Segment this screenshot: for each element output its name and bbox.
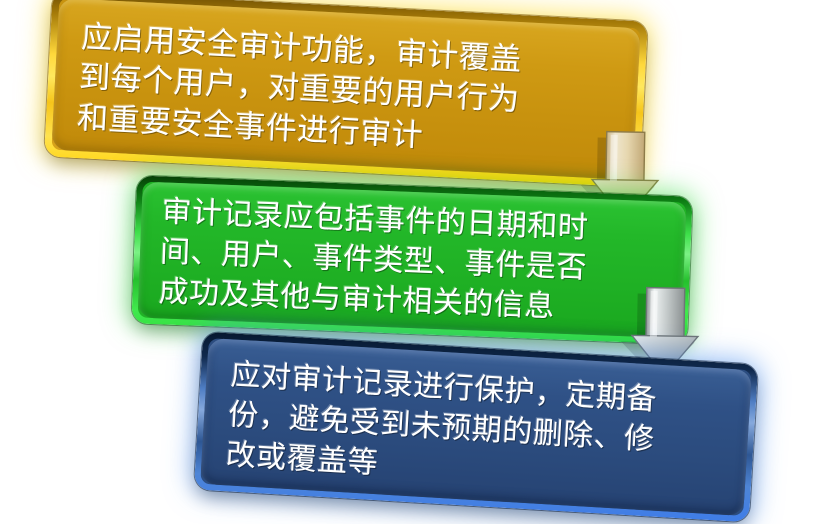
callout-box-audit-record-content[interactable]: 审计记录应包括事件的日期和时 间、用户、事件类型、事件是否 成功及其他与审计相关… [131, 175, 692, 344]
callout-box-audit-enable[interactable]: 应启用安全审计功能，审计覆盖 到每个用户，对重要的用户行为 和重要安全事件进行审… [44, 0, 648, 187]
callout-box-orange-text: 应启用安全审计功能，审计覆盖 到每个用户，对重要的用户行为 和重要安全事件进行审… [76, 17, 626, 166]
slide-canvas: 应启用安全审计功能，审计覆盖 到每个用户，对重要的用户行为 和重要安全事件进行审… [0, 0, 816, 524]
callout-box-blue-text: 应对审计记录进行保护，定期备 份，避免受到未预期的删除、修 改或覆盖等 [225, 355, 739, 505]
callout-box-audit-record-protection[interactable]: 应对审计记录进行保护，定期备 份，避免受到未预期的删除、修 改或覆盖等 [194, 332, 758, 523]
callout-box-orange-face: 应启用安全审计功能，审计覆盖 到每个用户，对重要的用户行为 和重要安全事件进行审… [51, 0, 640, 180]
callout-box-blue-face: 应对审计记录进行保护，定期备 份，避免受到未预期的删除、修 改或覆盖等 [200, 338, 752, 516]
callout-box-green-face: 审计记录应包括事件的日期和时 间、用户、事件类型、事件是否 成功及其他与审计相关… [138, 182, 687, 339]
callout-box-green-text: 审计记录应包括事件的日期和时 间、用户、事件类型、事件是否 成功及其他与审计相关… [158, 192, 674, 331]
